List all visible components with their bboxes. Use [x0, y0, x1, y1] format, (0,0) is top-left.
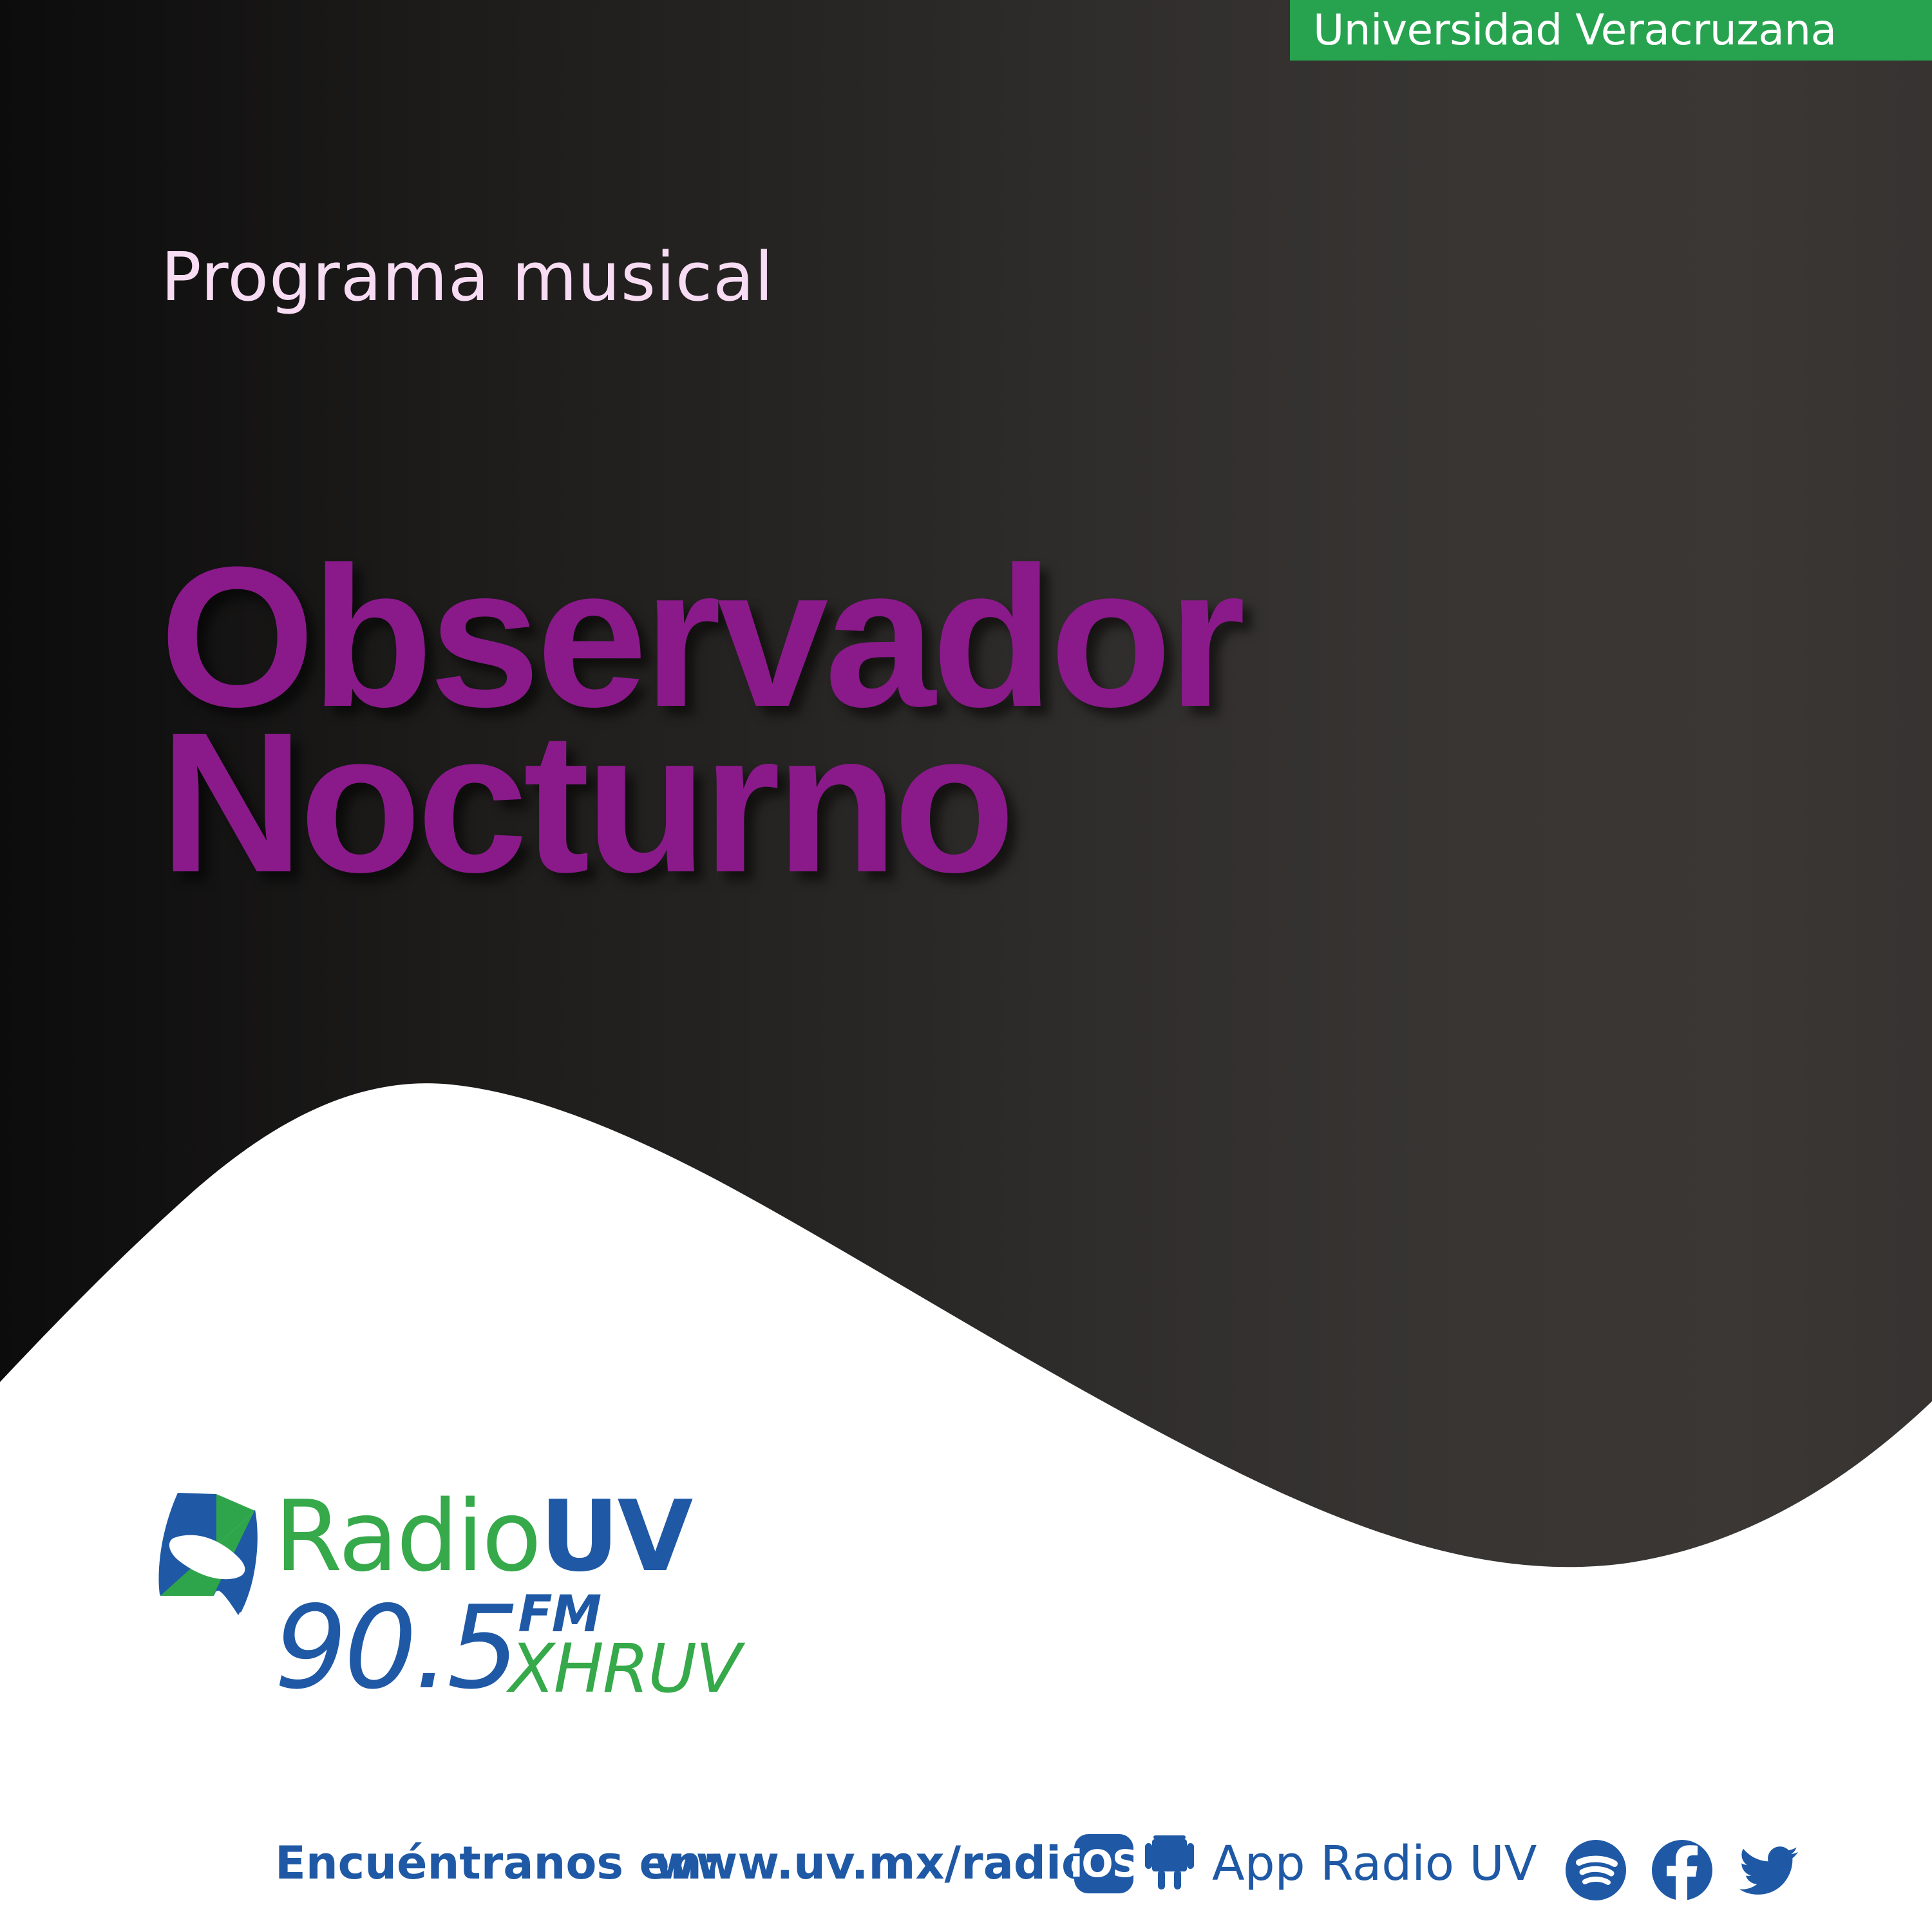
twitter-icon[interactable]	[1736, 1838, 1801, 1902]
radiouv-wordmark: RadioUV	[274, 1488, 691, 1586]
university-banner-label: Universidad Veracruzana	[1313, 9, 1837, 52]
frequency-row: 90.5 FM XHRUV	[274, 1591, 740, 1705]
website-link[interactable]: www.uv.mx/radio	[654, 1841, 1092, 1886]
app-group: iOS App Radio UV	[1074, 1834, 1537, 1893]
frequency-number: 90.5	[274, 1591, 516, 1705]
ios-badge-icon[interactable]: iOS	[1074, 1834, 1133, 1893]
wordmark-radio: Radio	[274, 1479, 540, 1593]
program-kicker: Programa musical	[161, 243, 774, 310]
facebook-icon[interactable]	[1650, 1838, 1714, 1902]
android-robot-icon[interactable]	[1142, 1834, 1197, 1893]
app-name-label: App Radio UV	[1212, 1840, 1537, 1888]
radiouv-logo: RadioUV 90.5 FM XHRUV	[152, 1493, 661, 1725]
university-banner: Universidad Veracruzana	[1290, 0, 1932, 61]
program-title: Observador Nocturno	[160, 554, 1899, 885]
find-us-label: Encuéntranos en:	[275, 1841, 720, 1886]
social-links	[1564, 1838, 1801, 1902]
radiouv-logo-mark	[152, 1493, 268, 1622]
station-callsign: XHRUV	[509, 1638, 740, 1700]
contact-strip: Encuéntranos en: www.uv.mx/radio iOS App…	[0, 1837, 1932, 1927]
wordmark-uv: UV	[540, 1479, 691, 1593]
poster-canvas: Universidad Veracruzana Programa musical…	[0, 0, 1932, 1932]
spotify-icon[interactable]	[1564, 1838, 1628, 1902]
